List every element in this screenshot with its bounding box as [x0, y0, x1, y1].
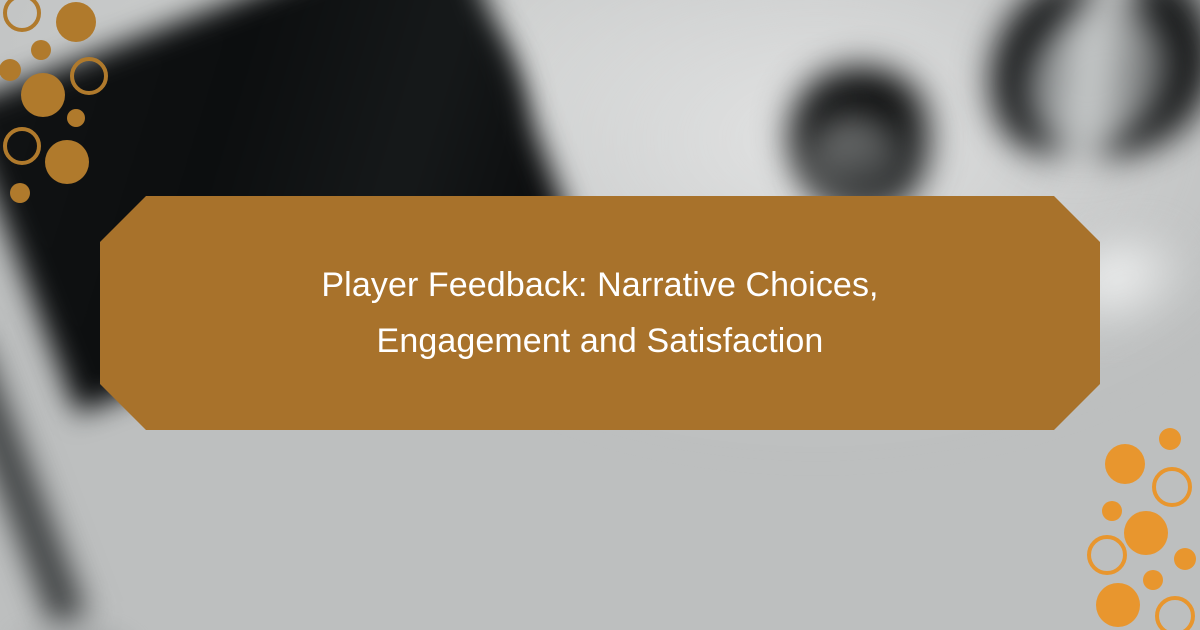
circle-filled-3 — [1102, 501, 1122, 521]
circle-outline-5 — [1087, 535, 1127, 575]
circle-outline-9 — [1155, 596, 1195, 630]
circle-filled-1 — [56, 2, 96, 42]
circle-filled-6 — [67, 109, 85, 127]
headphones-earcup-rim — [806, 116, 902, 208]
circle-outline-4 — [70, 57, 108, 95]
circle-outline-0 — [3, 0, 41, 32]
circle-filled-7 — [1143, 570, 1163, 590]
circle-filled-9 — [10, 183, 30, 203]
circle-filled-1 — [1105, 444, 1145, 484]
circle-filled-5 — [21, 73, 65, 117]
circle-outline-2 — [1152, 467, 1192, 507]
social-card-canvas: Player Feedback: Narrative Choices,Engag… — [0, 0, 1200, 630]
circle-filled-8 — [45, 140, 89, 184]
circle-cluster-top-left — [0, 0, 120, 215]
page-title-line-1: Player Feedback: Narrative Choices, — [290, 257, 910, 313]
circle-filled-2 — [31, 40, 51, 60]
circle-filled-0 — [1159, 428, 1181, 450]
circle-cluster-bottom-right — [1080, 425, 1200, 630]
page-title-line-2: Engagement and Satisfaction — [290, 313, 910, 369]
circle-filled-4 — [1124, 511, 1168, 555]
circle-filled-6 — [1174, 548, 1196, 570]
title-banner: Player Feedback: Narrative Choices,Engag… — [100, 196, 1100, 430]
circle-filled-8 — [1096, 583, 1140, 627]
page-title: Player Feedback: Narrative Choices,Engag… — [290, 257, 910, 369]
circle-outline-7 — [3, 127, 41, 165]
circle-filled-3 — [0, 59, 21, 81]
